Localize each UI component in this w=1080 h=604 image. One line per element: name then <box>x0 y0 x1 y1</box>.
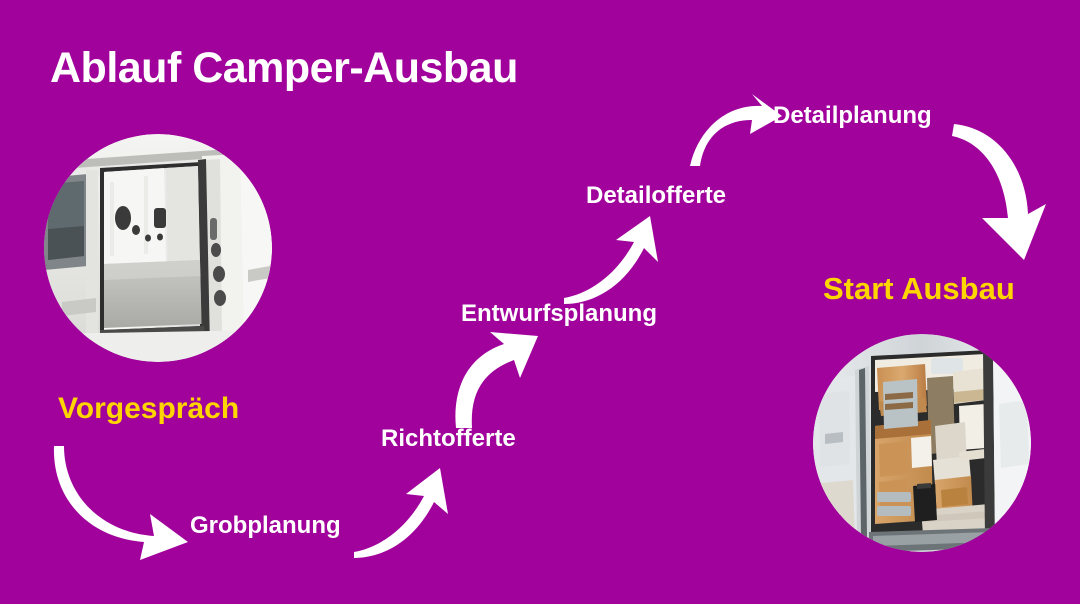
step-label-vorgespraech: Vorgespräch <box>58 392 239 426</box>
arrow-detailofferte-detailplanung <box>688 94 784 168</box>
infographic-canvas: Ablauf Camper-Ausbau <box>0 0 1080 604</box>
step-label-detailplanung: Detailplanung <box>773 102 932 130</box>
arrow-entwurfsplanung-detailofferte <box>562 216 670 304</box>
van-built-illustration <box>813 334 1031 552</box>
step-label-entwurfsplanung: Entwurfsplanung <box>461 300 657 328</box>
arrow-vorgespraech-grobplanung <box>50 440 190 560</box>
arrow-richtofferte-entwurfsplanung <box>442 330 550 430</box>
step-label-start-ausbau: Start Ausbau <box>823 271 1015 307</box>
arrow-glyph <box>690 94 782 166</box>
arrow-glyph <box>952 124 1046 260</box>
van-empty-illustration <box>44 134 272 362</box>
photo-van-after <box>813 334 1031 552</box>
step-label-grobplanung: Grobplanung <box>190 512 341 540</box>
step-label-detailofferte: Detailofferte <box>586 182 726 210</box>
arrow-glyph <box>54 446 188 560</box>
arrow-glyph <box>354 468 448 558</box>
arrow-glyph <box>564 216 658 304</box>
arrow-detailplanung-startausbau <box>952 118 1060 264</box>
arrow-glyph <box>455 332 538 428</box>
page-title: Ablauf Camper-Ausbau <box>50 44 518 93</box>
photo-van-before <box>44 134 272 362</box>
arrow-grobplanung-richtofferte <box>352 466 462 558</box>
